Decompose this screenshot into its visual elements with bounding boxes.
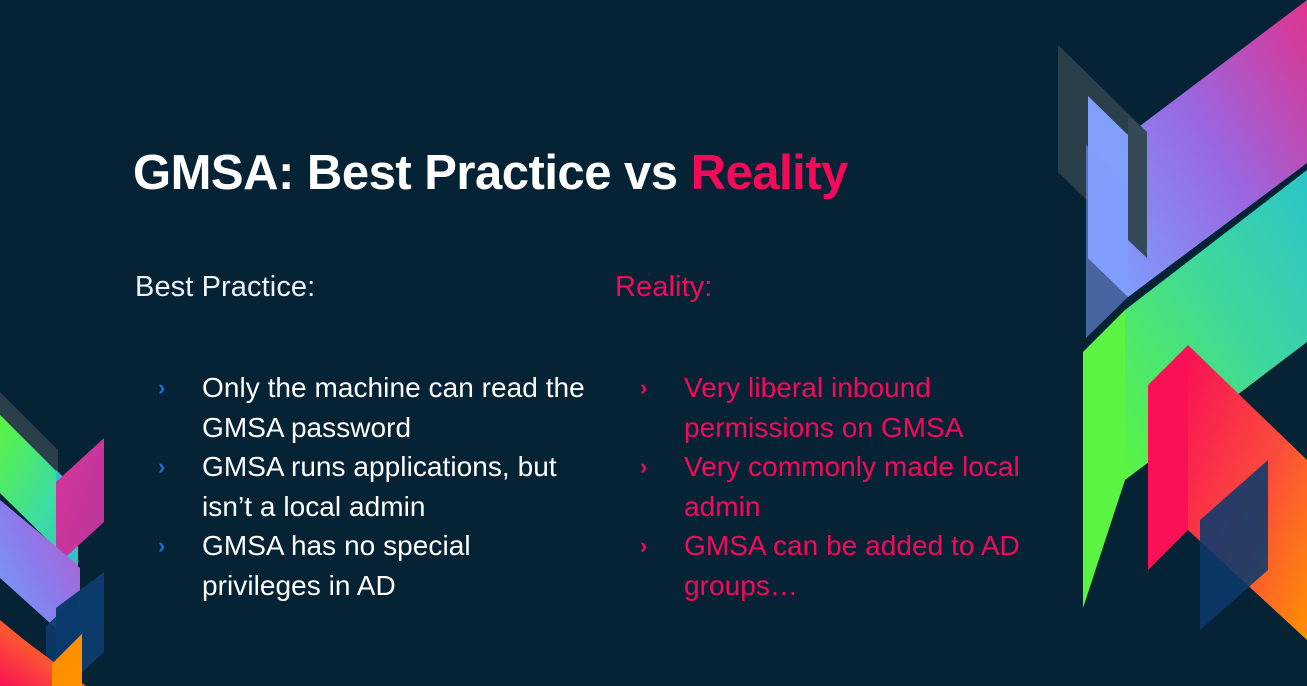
column-heading-reality: Reality: [615, 271, 713, 304]
list-item: › Only the machine can read the GMSA pas… [155, 368, 585, 447]
list-item: › Very commonly made local admin [637, 447, 1037, 526]
list-item-text: GMSA runs applications, but isn’t a loca… [202, 451, 557, 522]
list-item: › GMSA can be added to AD groups… [637, 526, 1037, 605]
page-title-accent: Reality [691, 146, 848, 200]
column-reality: › Very liberal inbound permissions on GM… [637, 368, 1037, 605]
chevron-right-icon: › [158, 368, 165, 408]
list-item-text: Very commonly made local admin [684, 451, 1020, 522]
chevron-right-icon: › [640, 526, 647, 566]
slide-root: GMSA: Best Practice vs Reality Best Prac… [0, 0, 1307, 686]
page-title: GMSA: Best Practice vs Reality [133, 145, 848, 201]
list-item-text: GMSA has no special privileges in AD [202, 530, 471, 601]
chevron-right-icon: › [640, 447, 647, 487]
bullet-list-reality: › Very liberal inbound permissions on GM… [637, 368, 1037, 605]
chevron-right-icon: › [158, 447, 165, 487]
column-best-practice: › Only the machine can read the GMSA pas… [155, 368, 585, 605]
chevron-right-icon: › [640, 368, 647, 408]
list-item-text: Only the machine can read the GMSA passw… [202, 372, 585, 443]
list-item: › Very liberal inbound permissions on GM… [637, 368, 1037, 447]
list-item-text: GMSA can be added to AD groups… [684, 530, 1020, 601]
list-item-text: Very liberal inbound permissions on GMSA [684, 372, 964, 443]
page-title-main: GMSA: Best Practice vs [133, 146, 691, 200]
list-item: › GMSA has no special privileges in AD [155, 526, 585, 605]
list-item: › GMSA runs applications, but isn’t a lo… [155, 447, 585, 526]
column-heading-best-practice: Best Practice: [135, 271, 315, 304]
slide-content: GMSA: Best Practice vs Reality Best Prac… [0, 0, 1307, 686]
chevron-right-icon: › [158, 526, 165, 566]
bullet-list-best-practice: › Only the machine can read the GMSA pas… [155, 368, 585, 605]
